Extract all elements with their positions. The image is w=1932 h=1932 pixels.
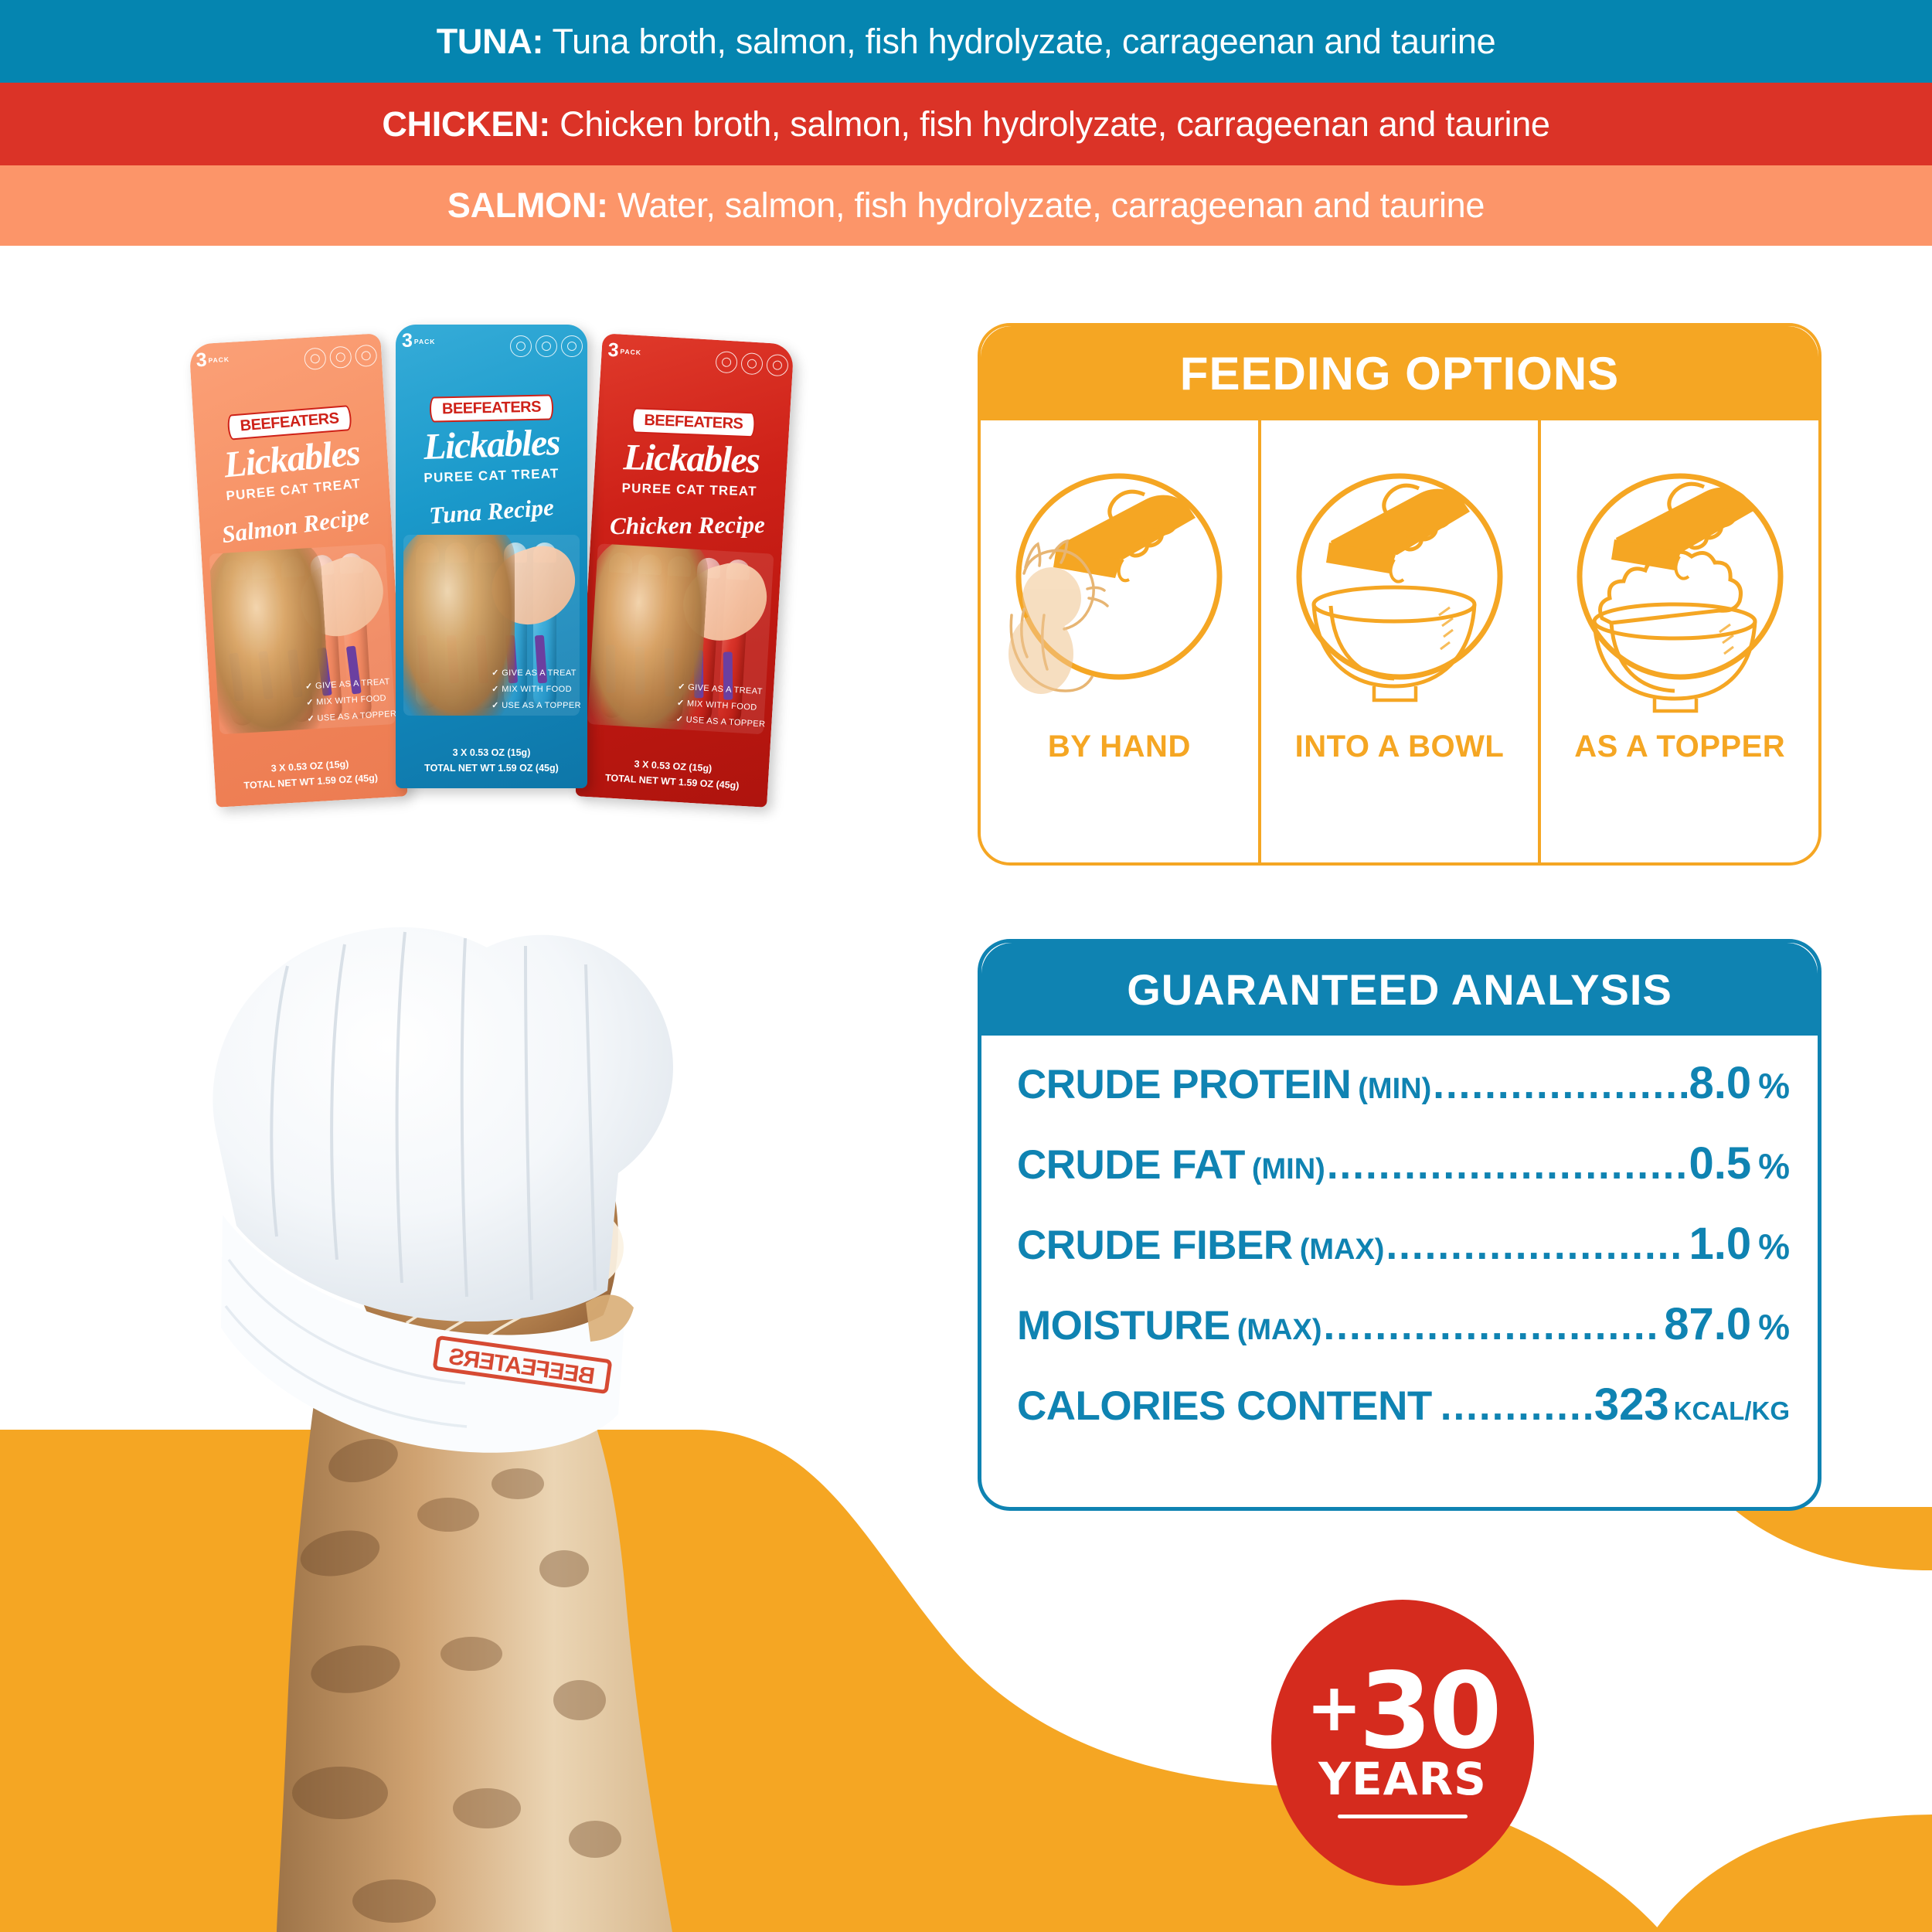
analysis-row: CRUDE FIBER (MAX) ......................…: [1017, 1218, 1790, 1298]
feeding-option-by-hand[interactable]: BY HAND: [981, 420, 1258, 862]
analysis-label: CALORIES CONTENT: [1017, 1383, 1432, 1430]
flavor-label: CHICKEN:: [382, 104, 550, 144]
pack-count: 3: [196, 351, 207, 371]
tube-topping-bowl-icon: [1568, 461, 1792, 716]
net-weight: 3 X 0.53 OZ (15g) TOTAL NET WT 1.59 OZ (…: [576, 753, 769, 794]
flavor-label: TUNA:: [437, 22, 543, 61]
no-sugar-added-seal-icon: [329, 345, 352, 369]
product-package-chicken[interactable]: 3PACK BEEFEATERS Lickables PUREE CAT TRE…: [575, 333, 794, 808]
ingredient-band-salmon: SALMON: Water, salmon, fish hydrolyzate,…: [0, 165, 1932, 246]
benefit-item: USE AS A TOPPER: [492, 698, 581, 714]
no-sugar-added-seal-icon: [740, 352, 764, 376]
analysis-dots: .................: [1440, 1383, 1593, 1430]
analysis-dots: .......................: [1386, 1222, 1687, 1269]
recipe-name: Salmon Recipe: [220, 502, 371, 549]
natural-ingredients-seal-icon: [715, 351, 738, 374]
product-name: Lickables: [423, 421, 560, 468]
pack-count: 3: [402, 332, 413, 351]
analysis-qualifier: (MIN): [1252, 1153, 1325, 1186]
no-sugar-added-seal-icon: [536, 335, 557, 357]
product-package-tuna[interactable]: 3PACK BEEFEATERS Lickables PUREE CAT TRE…: [396, 325, 587, 788]
analysis-label: CRUDE FIBER: [1017, 1222, 1293, 1269]
analysis-value: 87.0: [1664, 1298, 1751, 1350]
analysis-label: CRUDE FAT: [1017, 1141, 1245, 1189]
analysis-label: CRUDE PROTEIN: [1017, 1061, 1351, 1108]
analysis-value: 8.0: [1689, 1057, 1751, 1109]
badge-number-row: +30: [1306, 1667, 1498, 1757]
recipe-name: Tuna Recipe: [428, 493, 555, 529]
analysis-unit: %: [1758, 1145, 1790, 1187]
pack-word: PACK: [620, 348, 641, 355]
analysis-unit: KCAL/KG: [1674, 1396, 1790, 1426]
ingredient-list: Chicken broth, salmon, fish hydrolyzate,…: [560, 104, 1550, 144]
analysis-row: CRUDE FAT (MIN) ........................…: [1017, 1138, 1790, 1218]
ingredient-list: Water, salmon, fish hydrolyzate, carrage…: [617, 185, 1485, 225]
badge-underline: [1338, 1815, 1468, 1818]
badge-plus-sign: +: [1306, 1669, 1359, 1747]
gluten-free-seal-icon: [766, 354, 789, 377]
package-benefit-list: GIVE AS A TREAT MIX WITH FOOD USE AS A T…: [492, 665, 581, 714]
analysis-qualifier: (MIN): [1358, 1073, 1431, 1106]
guaranteed-analysis-title: GUARANTEED ANALYSIS: [1127, 964, 1672, 1015]
benefit-item: MIX WITH FOOD: [492, 682, 581, 698]
certification-seals: [715, 351, 787, 376]
chef-hat-cat-photo: BEEFEATERS: [85, 873, 781, 1932]
analysis-row: CRUDE PROTEIN (MIN) ....................…: [1017, 1057, 1790, 1138]
total-weight: TOTAL NET WT 1.59 OZ (45g): [396, 761, 587, 776]
analysis-dots: ..........................: [1324, 1302, 1663, 1349]
pack-count: 3: [607, 341, 619, 361]
analysis-qualifier: (MAX): [1300, 1233, 1385, 1267]
certification-seals: [510, 335, 581, 357]
net-weight: 3 X 0.53 OZ (15g) TOTAL NET WT 1.59 OZ (…: [214, 753, 407, 794]
pack-count-badge: 3PACK: [607, 341, 642, 362]
natural-ingredients-seal-icon: [304, 347, 327, 370]
flavor-label: SALMON:: [447, 185, 608, 225]
certification-seals: [304, 345, 376, 370]
feeding-options-panel: FEEDING OPTIONS: [978, 323, 1821, 866]
pack-word: PACK: [208, 356, 230, 364]
feeding-option-as-a-topper[interactable]: AS A TOPPER: [1538, 420, 1818, 862]
ingredient-band-text: CHICKEN: Chicken broth, salmon, fish hyd…: [382, 104, 1549, 145]
product-package-salmon[interactable]: 3PACK BEEFEATERS Lickables PUREE CAT TRE…: [189, 333, 407, 808]
tube-into-bowl-icon: [1287, 461, 1512, 716]
analysis-unit: %: [1758, 1306, 1790, 1348]
gluten-free-seal-icon: [355, 345, 378, 368]
brand-logo: BEEFEATERS: [430, 394, 554, 422]
cat-ear: [586, 1294, 634, 1342]
product-package-group: 3PACK BEEFEATERS Lickables PUREE CAT TRE…: [202, 325, 798, 827]
feeding-options-header: FEEDING OPTIONS: [981, 326, 1818, 420]
guaranteed-analysis-header: GUARANTEED ANALYSIS: [981, 943, 1818, 1036]
ingredient-band-chicken: CHICKEN: Chicken broth, salmon, fish hyd…: [0, 83, 1932, 165]
benefit-item: GIVE AS A TREAT: [492, 665, 581, 682]
analysis-unit: %: [1758, 1065, 1790, 1107]
analysis-row: CALORIES CONTENT ................. 323 K…: [1017, 1379, 1790, 1459]
guaranteed-analysis-panel: GUARANTEED ANALYSIS CRUDE PROTEIN (MIN) …: [978, 939, 1821, 1511]
analysis-dots: ......................: [1433, 1061, 1687, 1108]
product-name: Lickables: [623, 436, 760, 481]
feeding-option-label: AS A TOPPER: [1574, 730, 1785, 764]
ingredient-list: Tuna broth, salmon, fish hydrolyzate, ca…: [553, 22, 1496, 61]
analysis-dots: ............................: [1327, 1141, 1688, 1189]
analysis-value: 1.0: [1689, 1218, 1751, 1270]
pack-count-badge: 3PACK: [402, 332, 435, 351]
ingredient-band-text: TUNA: Tuna broth, salmon, fish hydrolyza…: [437, 22, 1496, 62]
brand-logo: BEEFEATERS: [631, 407, 756, 437]
analysis-value: 323: [1594, 1379, 1669, 1430]
analysis-label: MOISTURE: [1017, 1302, 1230, 1349]
product-subtitle: PUREE CAT TREAT: [423, 466, 560, 486]
anniversary-badge: +30 YEARS: [1271, 1600, 1534, 1886]
analysis-row: MOISTURE (MAX) .........................…: [1017, 1298, 1790, 1379]
natural-ingredients-seal-icon: [510, 335, 532, 357]
feeding-option-into-a-bowl[interactable]: INTO A BOWL: [1258, 420, 1539, 862]
product-subtitle: PUREE CAT TREAT: [621, 481, 757, 499]
ingredient-band-tuna: TUNA: Tuna broth, salmon, fish hydrolyza…: [0, 0, 1932, 83]
analysis-value: 0.5: [1689, 1138, 1751, 1189]
package-benefit-list: GIVE AS A TREAT MIX WITH FOOD USE AS A T…: [675, 679, 767, 733]
pack-word: PACK: [414, 338, 435, 345]
hand-feeding-cat-icon: [1007, 461, 1231, 716]
ingredient-band-text: SALMON: Water, salmon, fish hydrolyzate,…: [447, 185, 1485, 226]
package-benefit-list: GIVE AS A TREAT MIX WITH FOOD USE AS A T…: [304, 674, 396, 727]
recipe-name: Chicken Recipe: [610, 511, 765, 540]
unit-weight: 3 X 0.53 OZ (15g): [396, 746, 587, 760]
net-weight: 3 X 0.53 OZ (15g) TOTAL NET WT 1.59 OZ (…: [396, 746, 587, 776]
analysis-qualifier: (MAX): [1237, 1314, 1322, 1347]
gluten-free-seal-icon: [561, 335, 583, 357]
badge-years-label: YEARS: [1318, 1753, 1487, 1805]
analysis-unit: %: [1758, 1226, 1790, 1267]
guaranteed-analysis-rows: CRUDE PROTEIN (MIN) ....................…: [1017, 1057, 1790, 1459]
feeding-option-label: BY HAND: [1048, 730, 1191, 764]
feeding-options-title: FEEDING OPTIONS: [1180, 347, 1619, 400]
feeding-option-label: INTO A BOWL: [1295, 730, 1505, 764]
pack-count-badge: 3PACK: [196, 349, 230, 371]
